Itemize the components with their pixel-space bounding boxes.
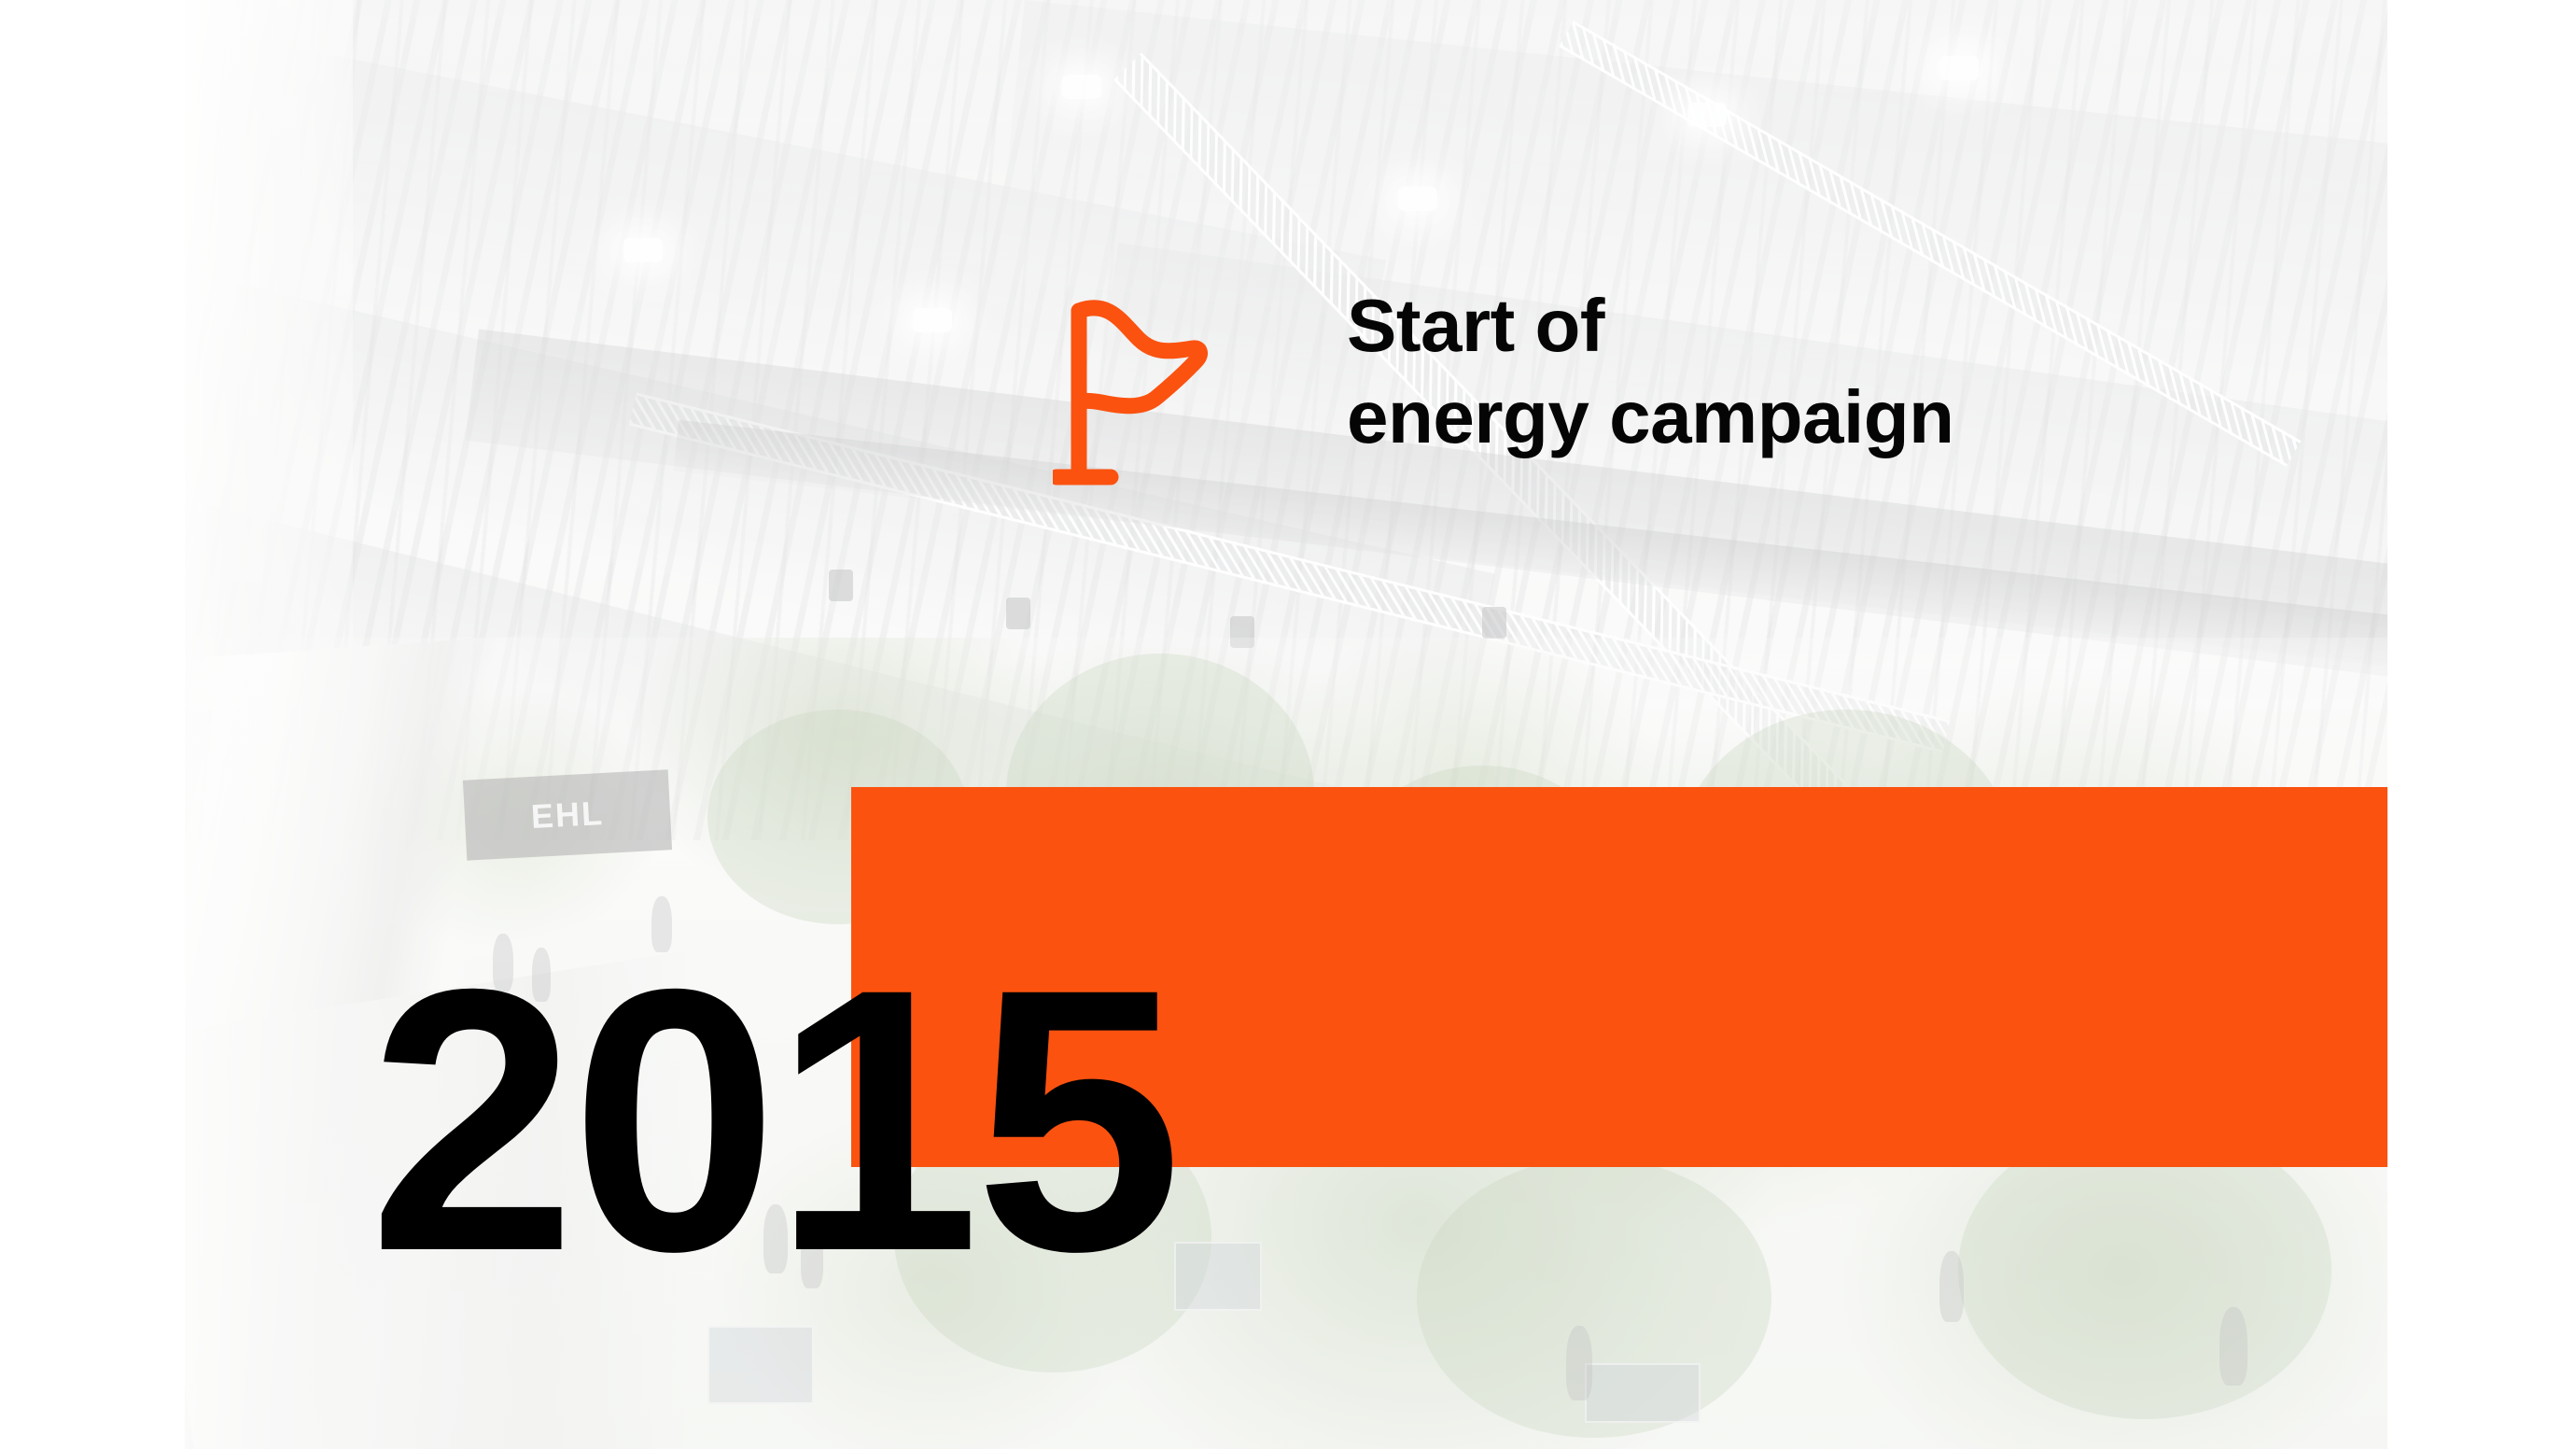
headline: Start of energy campaign [1347,280,2280,462]
flag-icon [1053,294,1239,499]
headline-line-2: energy campaign [1347,372,2280,463]
headline-line-1: Start of [1347,280,2280,372]
timeline-slide: EHL [0,0,2576,1449]
year-label: 2015 [369,934,1177,1307]
